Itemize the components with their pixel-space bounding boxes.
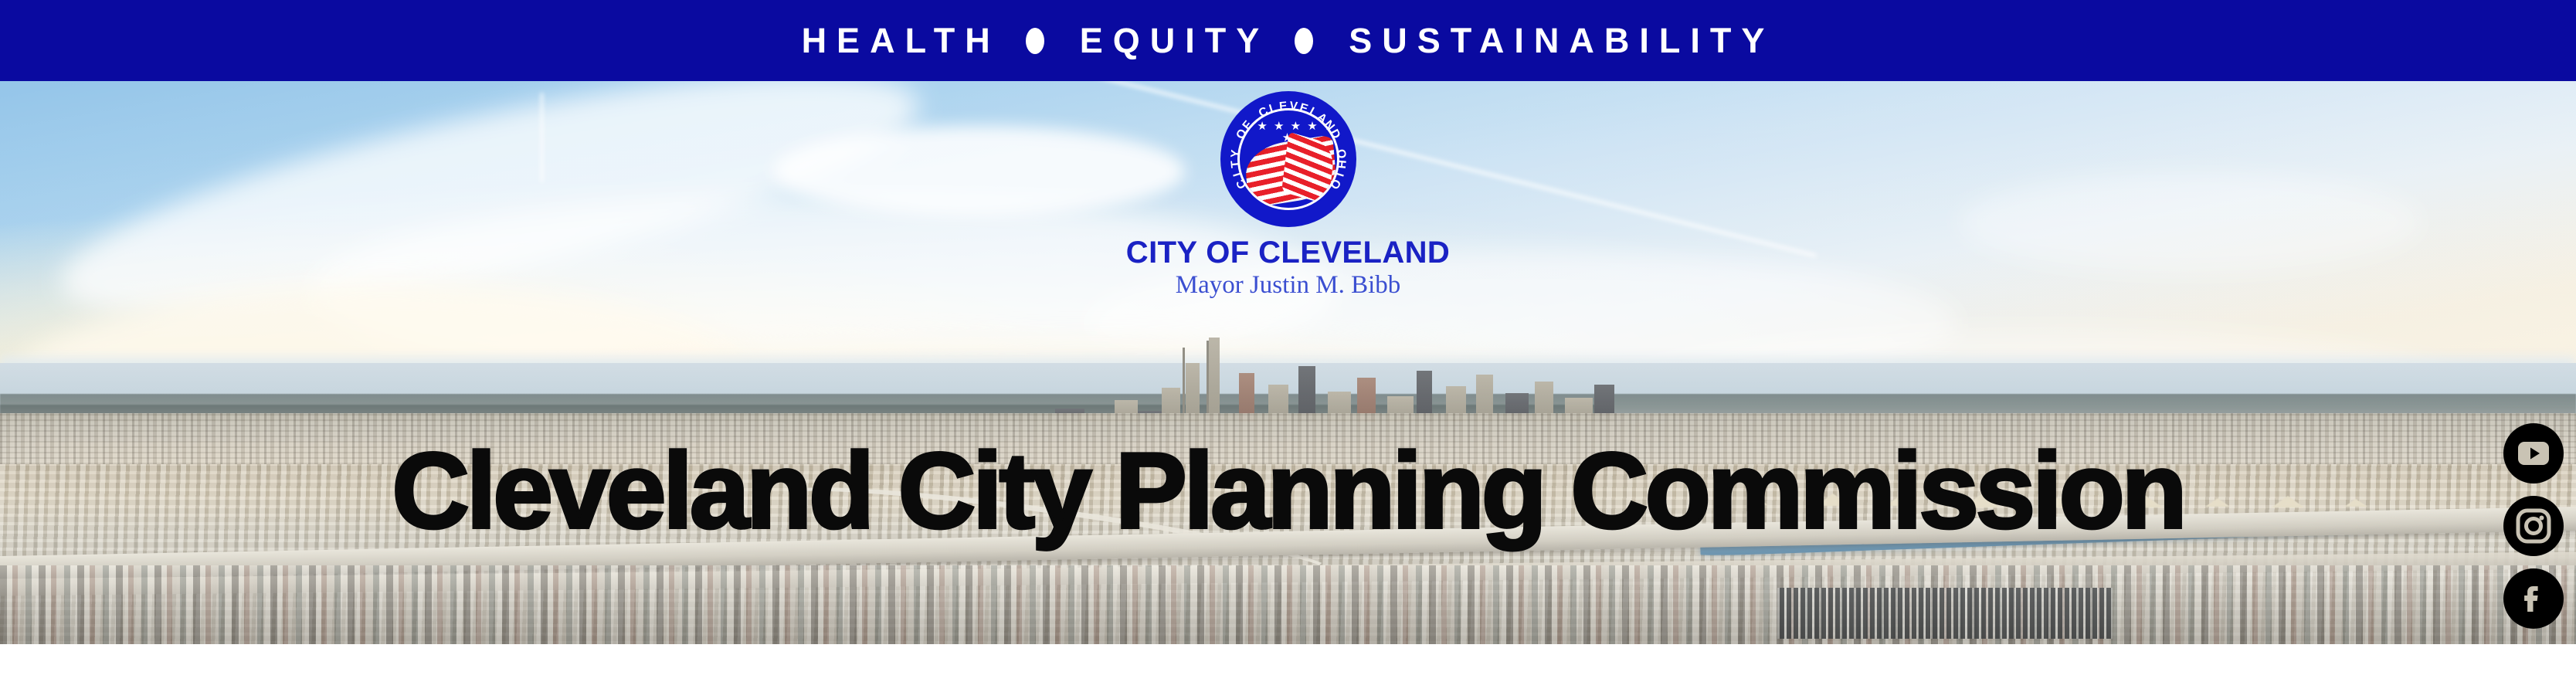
page-title: Cleveland City Planning Commission <box>0 437 2576 545</box>
youtube-icon[interactable] <box>2503 423 2564 484</box>
tagline-word-equity: EQUITY <box>1080 23 1270 58</box>
bullet-dot-icon <box>1026 28 1044 54</box>
facebook-icon[interactable] <box>2503 568 2564 629</box>
city-branding-lockup: CITY OF CLEVELAND OHIO ★ ★ ★ ★ ★ ★ ★ CIT… <box>995 91 1582 299</box>
foreground-shading <box>0 565 2576 644</box>
tagline-bar: HEALTH EQUITY SUSTAINABILITY <box>0 0 2576 81</box>
bullet-dot-icon <box>1295 28 1313 54</box>
instagram-icon[interactable] <box>2503 496 2564 556</box>
social-links <box>2503 423 2564 629</box>
page-root: HEALTH EQUITY SUSTAINABILITY <box>0 0 2576 682</box>
city-name-text: CITY OF CLEVELAND <box>995 236 1582 269</box>
tagline-inner: HEALTH EQUITY SUSTAINABILITY <box>802 23 1775 58</box>
city-of-cleveland-seal: CITY OF CLEVELAND OHIO ★ ★ ★ ★ ★ ★ ★ <box>1220 91 1356 227</box>
tagline-word-sustainability: SUSTAINABILITY <box>1349 23 1774 58</box>
mayor-name-text: Mayor Justin M. Bibb <box>995 271 1582 299</box>
tagline-word-health: HEALTH <box>802 23 1000 58</box>
seal-inner-disc: ★ ★ ★ ★ ★ ★ ★ <box>1237 108 1339 210</box>
